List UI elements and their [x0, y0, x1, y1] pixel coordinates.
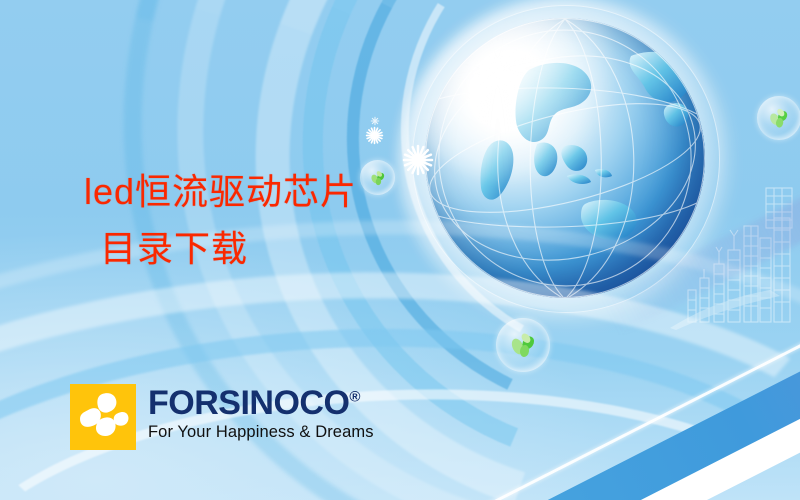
- bubble-pinwheel-b: [496, 318, 550, 372]
- bubble-pinwheel-c: [757, 96, 800, 140]
- sparkle-small-a-icon: [370, 116, 380, 126]
- logo-text-block: FORSINOCO® For Your Happiness & Dreams: [148, 384, 374, 443]
- forsinoco-pinwheel-icon: [70, 384, 136, 450]
- brand-name: FORSINOCO: [148, 384, 349, 422]
- headline: led恒流驱动芯片 目录下载: [84, 164, 357, 278]
- banner-canvas: led恒流驱动芯片 目录下载 FORSINOCO® For Your Happi…: [0, 0, 800, 500]
- registered-trademark-icon: ®: [349, 389, 360, 406]
- sparkle-large-a-icon: [402, 144, 434, 176]
- headline-line-1: led恒流驱动芯片: [84, 171, 357, 212]
- brand-logo[interactable]: FORSINOCO® For Your Happiness & Dreams: [70, 384, 374, 450]
- brand-wordmark: FORSINOCO®: [148, 386, 374, 420]
- brand-tagline: For Your Happiness & Dreams: [148, 423, 374, 443]
- sparkle-medium-a-icon: [365, 126, 384, 145]
- headline-line-2: 目录下载: [100, 221, 357, 278]
- bubble-pinwheel-a: [360, 160, 395, 195]
